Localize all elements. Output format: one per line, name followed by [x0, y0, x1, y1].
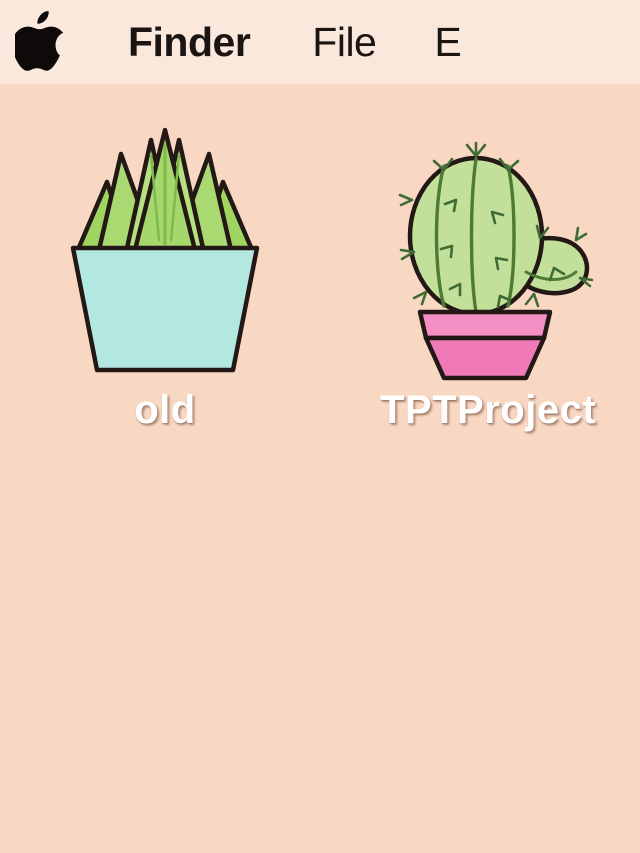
succulent-plant-icon [55, 126, 275, 384]
desktop-icon-label-tptproject: TPTProject [380, 386, 610, 434]
cactus-plant-icon [390, 126, 610, 384]
desktop-icon-old[interactable]: old [55, 126, 275, 434]
menu-item-edit[interactable]: E [434, 22, 461, 63]
menu-bar: Finder File E [0, 0, 640, 84]
apple-logo-icon [15, 10, 69, 74]
menu-item-file[interactable]: File [312, 22, 376, 63]
desktop-icon-tptproject[interactable]: TPTProject [390, 126, 610, 434]
screen: Finder File E [0, 0, 640, 853]
menu-item-finder[interactable]: Finder [128, 22, 250, 63]
apple-menu-button[interactable] [0, 0, 72, 84]
desktop-icon-label-old: old [55, 386, 275, 434]
